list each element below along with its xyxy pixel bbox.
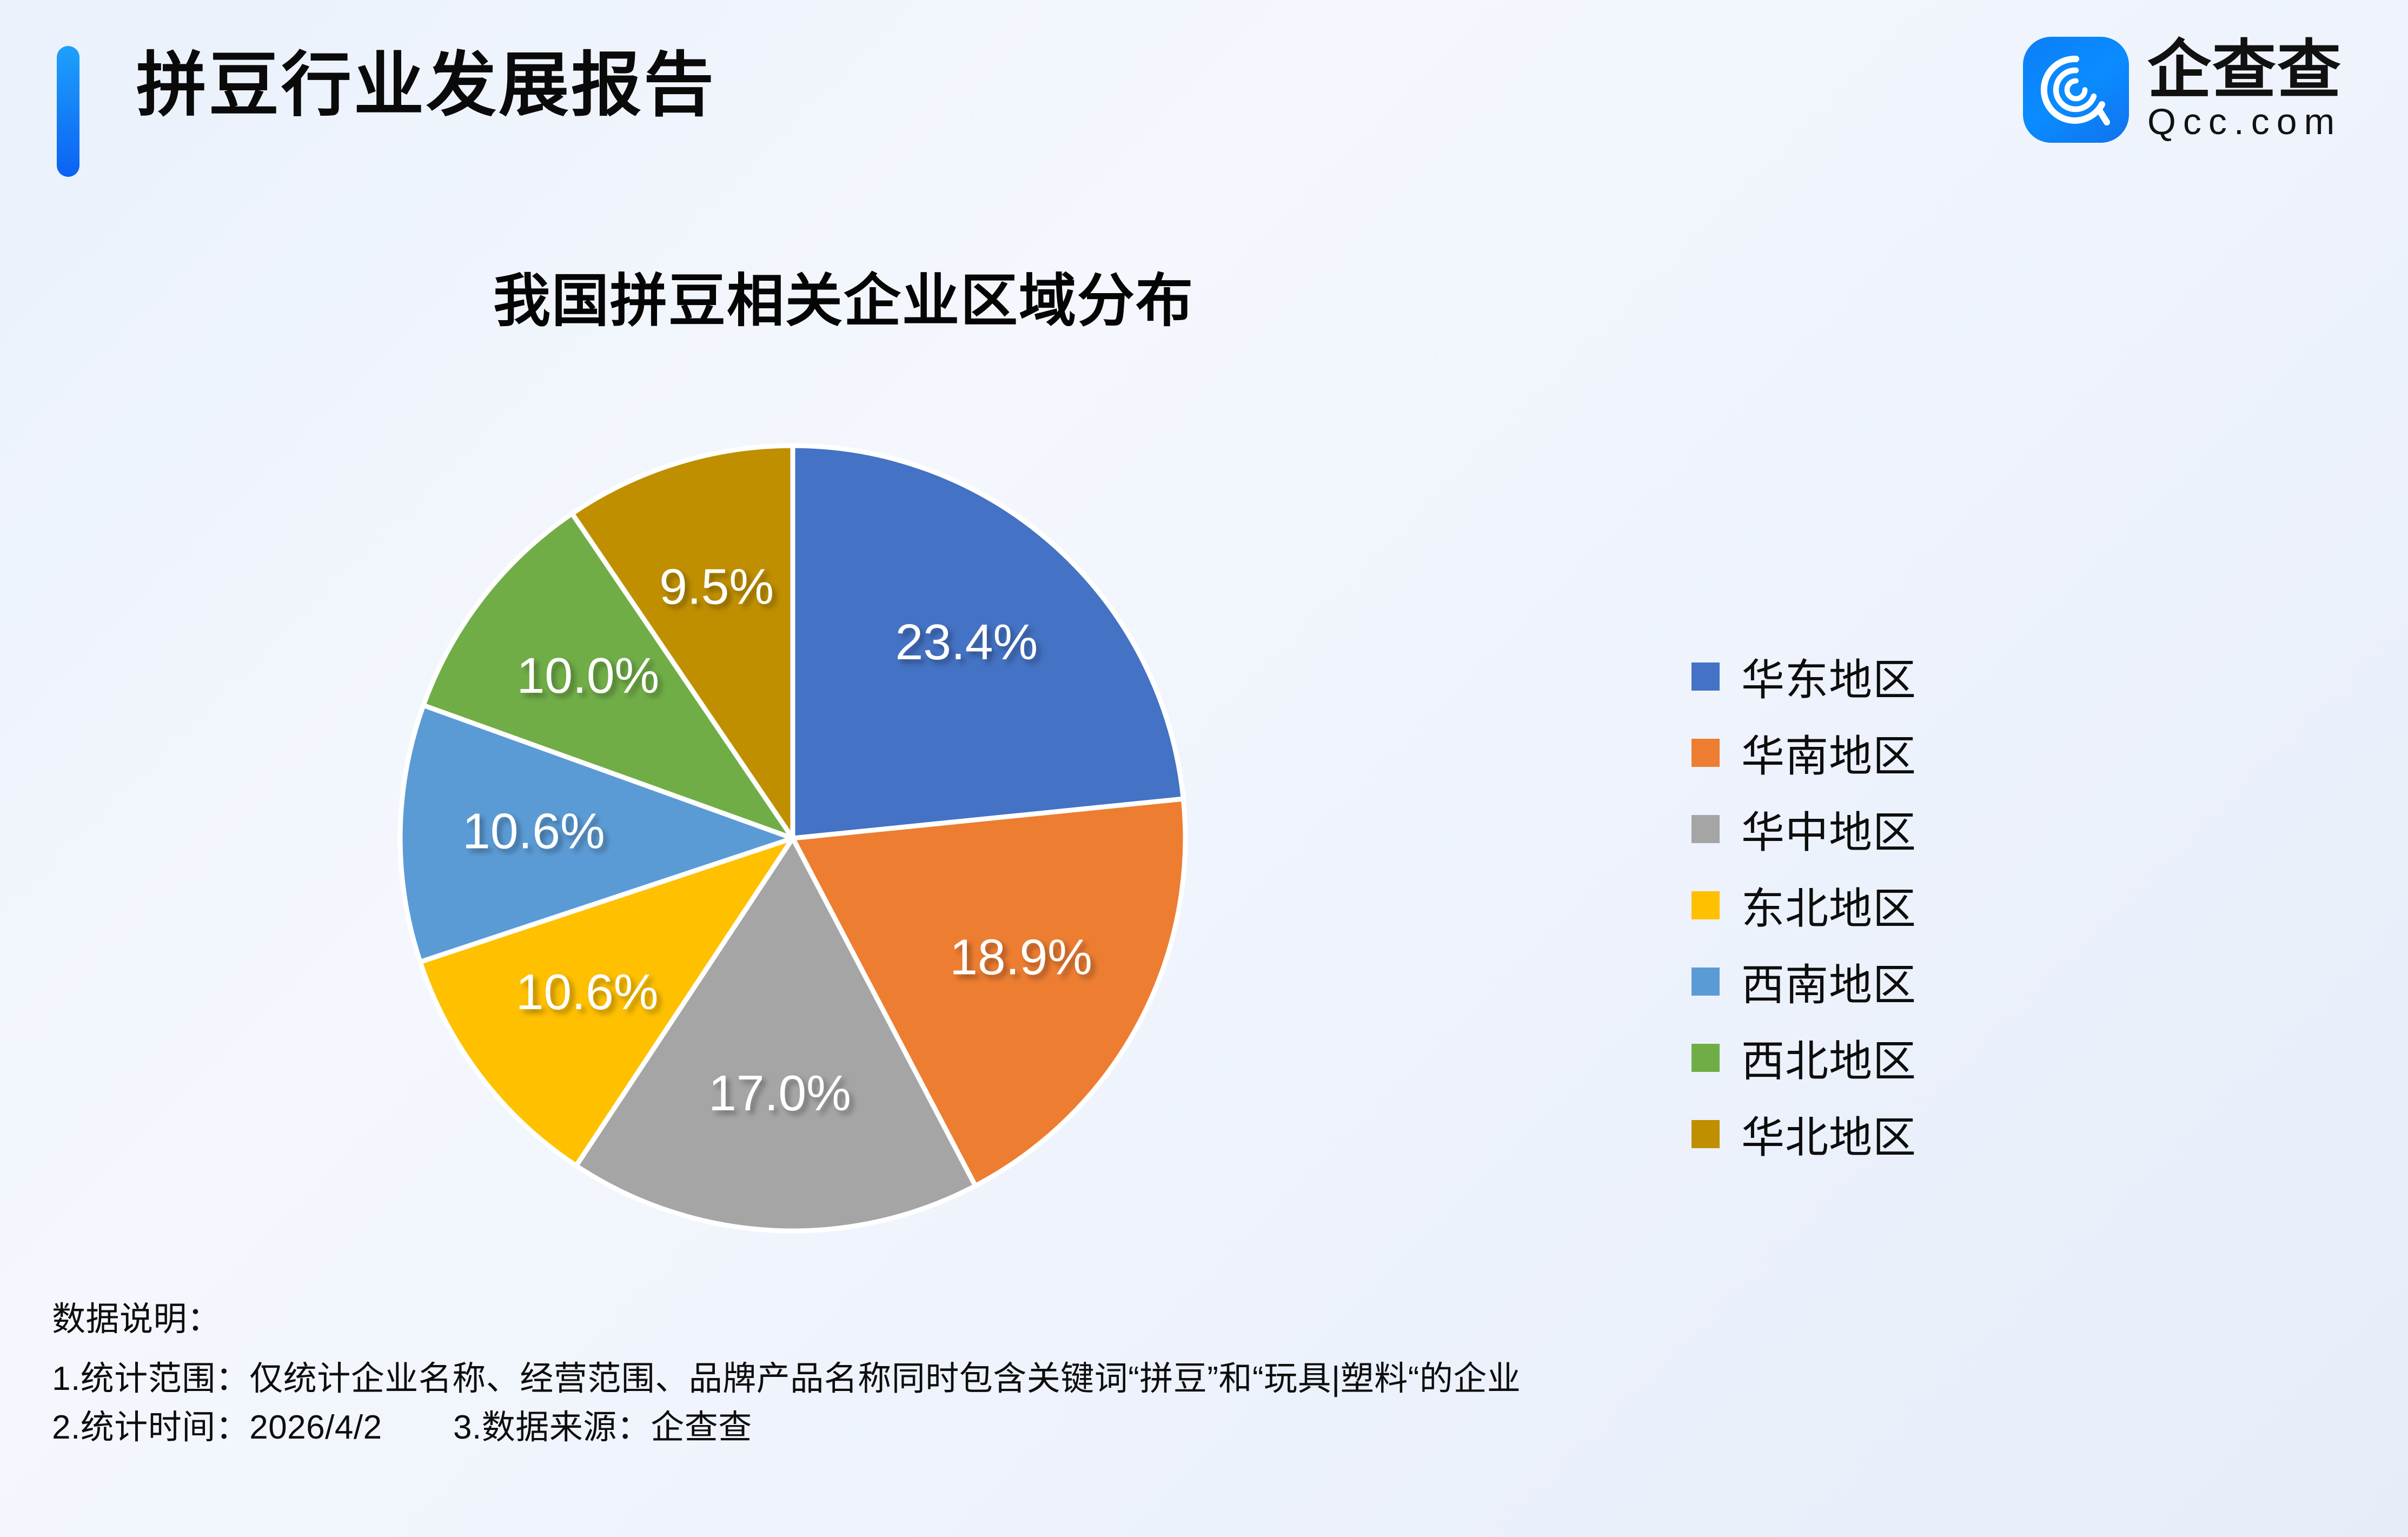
chart-title: 我国拼豆相关企业区域分布 (0, 254, 1687, 337)
legend-label: 西南地区 (1741, 950, 1916, 1013)
legend-item[interactable]: 华南地区 (1691, 714, 1916, 791)
brand-wordmark: 企查查 Qcc.com (2147, 38, 2342, 142)
pie-slice-label: 10.6% (516, 964, 659, 1020)
note-time: 2.统计时间：2026/4/2 (52, 1409, 382, 1446)
brand-name-en: Qcc.com (2147, 103, 2341, 141)
page-title: 拼豆行业发展报告 (136, 50, 716, 120)
legend-swatch-icon (1691, 739, 1720, 767)
legend-label: 西北地区 (1741, 1026, 1916, 1089)
note-scope: 1.统计范围：仅统计企业名称、经营范围、品牌产品名称同时包含关键词“拼豆”和“玩… (52, 1355, 2323, 1403)
legend-swatch-icon (1691, 1120, 1720, 1148)
legend-item[interactable]: 华东地区 (1691, 638, 1916, 714)
pie-slice-label: 10.0% (517, 647, 660, 704)
legend-item[interactable]: 华北地区 (1691, 1096, 1916, 1172)
pie-chart: 23.4%18.9%17.0%10.6%10.6%10.0%9.5% (396, 442, 1189, 1235)
legend-label: 华中地区 (1741, 798, 1916, 860)
legend-label: 华北地区 (1741, 1103, 1916, 1165)
note-source: 3.数据来源：企查查 (453, 1409, 752, 1446)
data-notes: 数据说明： 1.统计范围：仅统计企业名称、经营范围、品牌产品名称同时包含关键词“… (52, 1295, 2323, 1452)
title-accent-bar (57, 46, 79, 177)
pie-slice-label: 17.0% (708, 1065, 851, 1121)
legend-swatch-icon (1691, 968, 1720, 996)
brand-name-cn: 企查查 (2147, 38, 2342, 103)
legend-label: 东北地区 (1741, 874, 1916, 937)
legend-item[interactable]: 西南地区 (1691, 943, 1916, 1019)
legend-item[interactable]: 华中地区 (1691, 791, 1916, 867)
page-header: 拼豆行业发展报告 企查查 Qcc.com (0, 0, 2408, 216)
legend-swatch-icon (1691, 662, 1720, 691)
notes-heading: 数据说明： (52, 1295, 2323, 1344)
pie-slice-label: 9.5% (659, 559, 774, 615)
legend-label: 华南地区 (1741, 721, 1916, 784)
legend-item[interactable]: 东北地区 (1691, 867, 1916, 943)
pie-chart-svg: 23.4%18.9%17.0%10.6%10.6%10.0%9.5% (396, 442, 1189, 1235)
legend-item[interactable]: 西北地区 (1691, 1019, 1916, 1096)
chart-legend: 华东地区华南地区华中地区东北地区西南地区西北地区华北地区 (1691, 638, 1916, 1172)
pie-slice-label: 23.4% (895, 614, 1038, 670)
pie-slice-label: 10.6% (462, 803, 605, 859)
brand-logo[interactable]: 企查查 Qcc.com (2023, 37, 2342, 143)
legend-swatch-icon (1691, 1044, 1720, 1072)
qcc-spiral-q-icon (2023, 37, 2129, 143)
note-time-source: 2.统计时间：2026/4/2 3.数据来源：企查查 (52, 1403, 2323, 1452)
legend-swatch-icon (1691, 891, 1720, 919)
legend-label: 华东地区 (1741, 645, 1916, 708)
legend-swatch-icon (1691, 815, 1720, 843)
pie-slice-label: 18.9% (950, 929, 1092, 985)
